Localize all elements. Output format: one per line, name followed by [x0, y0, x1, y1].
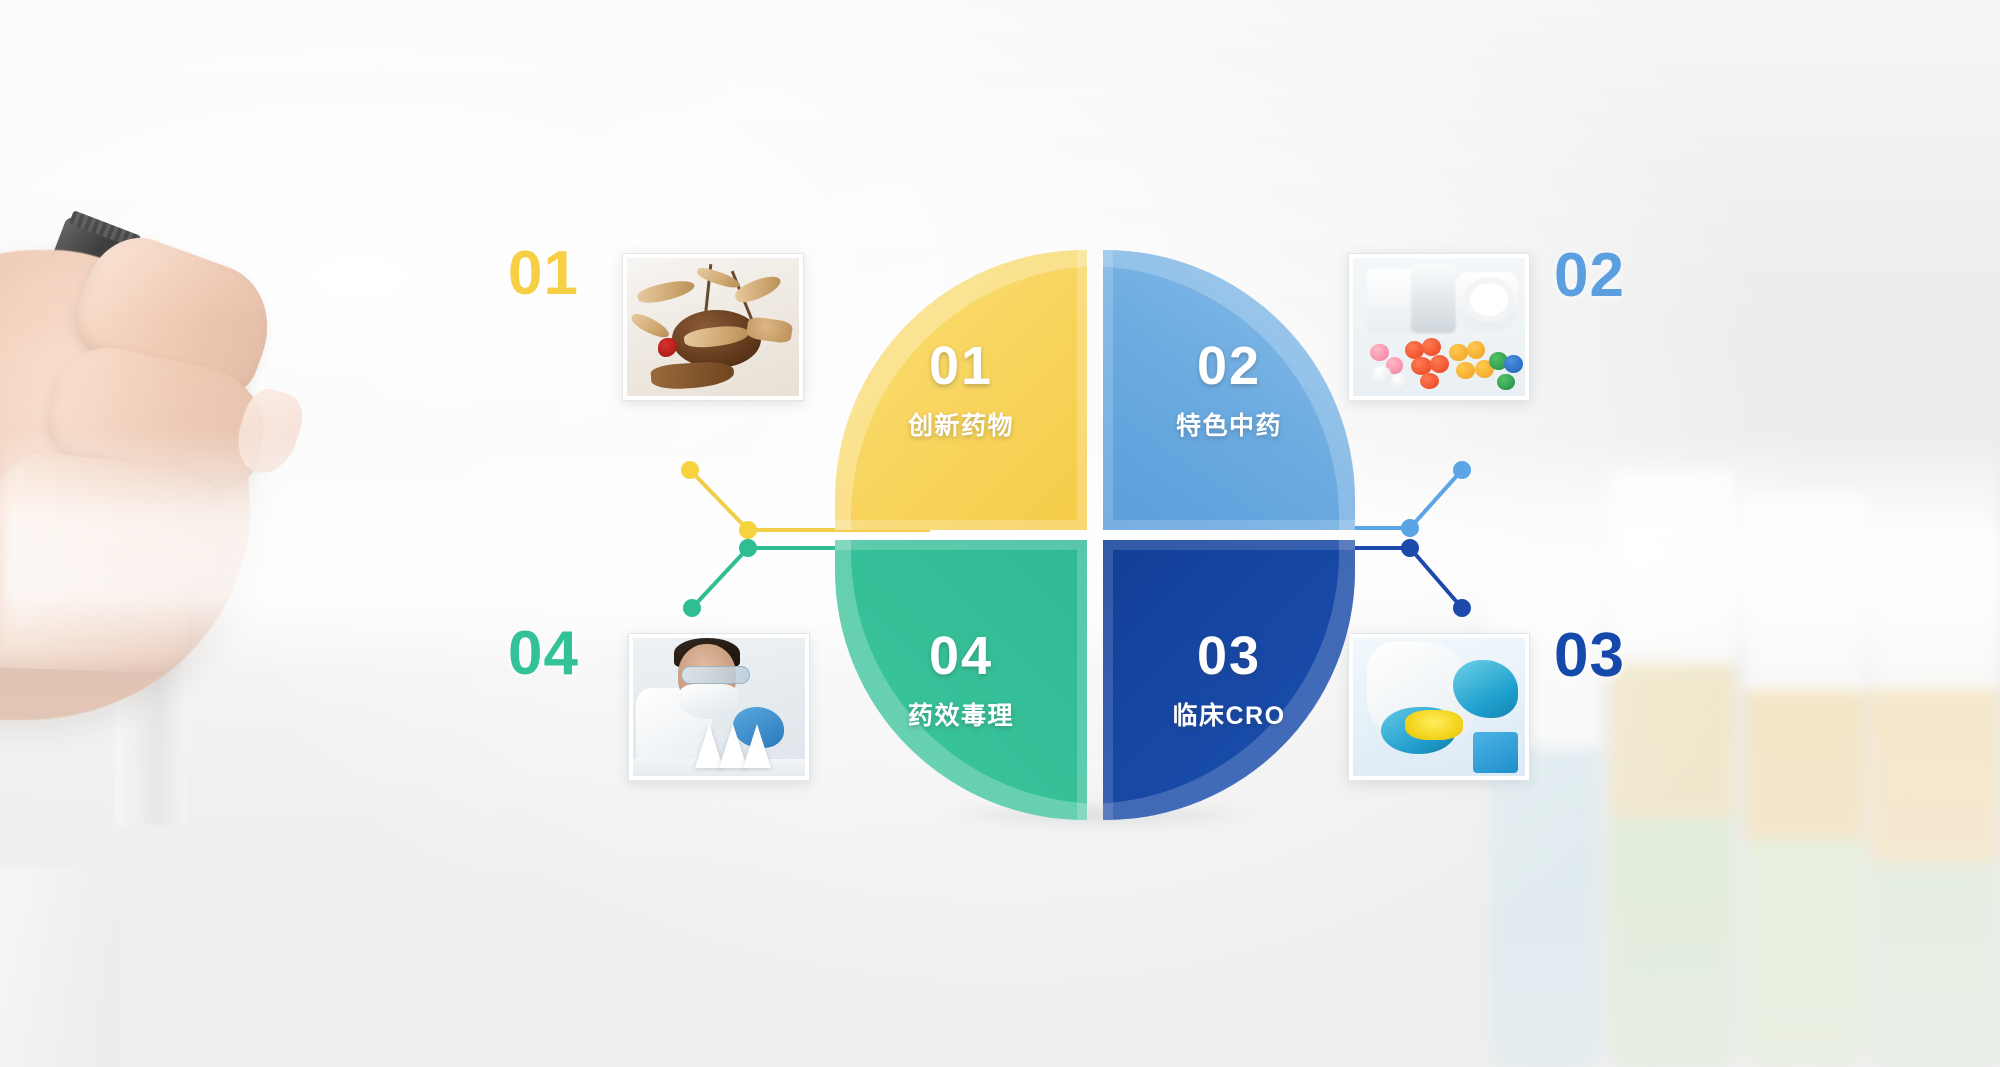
pill — [1405, 341, 1424, 359]
pill — [1422, 338, 1441, 356]
pill — [1504, 355, 1523, 373]
blue-container — [1473, 732, 1518, 773]
pill — [1456, 362, 1475, 380]
pill — [1497, 374, 1514, 391]
pill-jar — [1411, 264, 1456, 333]
safety-goggles — [681, 666, 750, 684]
thumbnail-01[interactable] — [622, 253, 804, 401]
segment-01-label: 创新药物 — [908, 406, 1014, 442]
pill — [1391, 374, 1408, 389]
thumbnail-02[interactable] — [1348, 253, 1530, 401]
scientist-lab-photo — [633, 638, 805, 776]
thumbnail-03[interactable] — [1348, 633, 1530, 781]
herb-berry — [658, 338, 677, 357]
infographic-canvas: 01 创新药物 02 特色中药 03 临床CRO 04 药效毒理 — [0, 0, 2000, 1067]
herb-bark — [650, 360, 734, 391]
segment-02[interactable]: 02 特色中药 — [1103, 250, 1355, 530]
yellow-capsules — [1405, 710, 1463, 740]
segment-01[interactable]: 01 创新药物 — [835, 250, 1087, 530]
face-mask — [679, 684, 737, 720]
pill — [1449, 344, 1468, 362]
flask — [743, 724, 771, 768]
herb-root — [732, 271, 783, 307]
quadrant-wheel: 01 创新药物 02 特色中药 03 临床CRO 04 药效毒理 — [835, 250, 1355, 820]
herbal-medicine-photo — [627, 258, 799, 396]
outer-number-02: 02 — [1554, 240, 1625, 311]
outer-number-03: 03 — [1554, 620, 1625, 691]
segment-04[interactable]: 04 药效毒理 — [835, 540, 1087, 820]
thumbnail-04[interactable] — [628, 633, 810, 781]
colored-pills-photo — [1353, 258, 1525, 396]
outer-number-04: 04 — [508, 618, 579, 689]
segment-03-label: 临床CRO — [1172, 696, 1285, 732]
herb-root — [636, 276, 697, 306]
pill — [1370, 344, 1389, 362]
segment-04-label: 药效毒理 — [908, 696, 1014, 732]
pill — [1467, 341, 1486, 359]
pill — [1420, 373, 1439, 390]
segment-03[interactable]: 03 临床CRO — [1103, 540, 1355, 820]
herb-root — [695, 265, 741, 291]
pill-jar — [1367, 269, 1415, 332]
segment-02-number: 02 — [1197, 339, 1261, 393]
segment-03-number: 03 — [1197, 629, 1261, 683]
pill — [1372, 366, 1391, 383]
segment-04-number: 04 — [929, 629, 993, 683]
herb-root — [630, 310, 673, 340]
pill — [1430, 355, 1449, 373]
gloved-hands-capsules-photo — [1353, 638, 1525, 776]
outer-number-01: 01 — [508, 238, 579, 309]
segment-01-number: 01 — [929, 339, 993, 393]
jar-lid — [1470, 283, 1508, 316]
segment-02-label: 特色中药 — [1176, 406, 1282, 442]
